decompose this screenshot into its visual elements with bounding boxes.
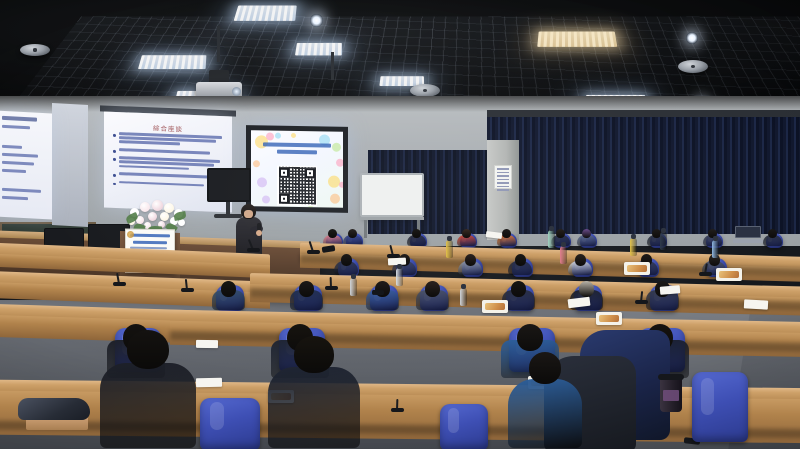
head (425, 281, 440, 297)
water-bottle-8 (660, 232, 667, 250)
head (579, 281, 594, 297)
desk-microphone-8 (635, 300, 648, 304)
confetti-dot-2 (266, 132, 274, 140)
head (462, 229, 471, 238)
bullet-line (119, 148, 211, 154)
head (328, 229, 337, 238)
ceiling-panel-light-9 (537, 32, 617, 47)
water-bottle-1 (350, 278, 357, 296)
bullet-dot (113, 150, 116, 153)
water-bottle-2 (446, 240, 453, 258)
ceiling-panel-light-1 (234, 6, 297, 21)
torso (100, 363, 196, 448)
water-bottle-9 (548, 230, 555, 248)
foreground-chair-2 (692, 372, 748, 442)
coffee-cup (660, 378, 682, 412)
audience-member-r1-10 (763, 229, 782, 246)
paper-sheet-4 (196, 378, 222, 387)
head (768, 229, 777, 238)
confetti-dot-13 (291, 132, 296, 137)
head (515, 254, 526, 266)
folded-coat (18, 398, 90, 420)
desk-microphone-9 (699, 272, 712, 276)
head (127, 330, 169, 369)
head (341, 254, 352, 266)
desk-microphone-2 (307, 250, 320, 254)
paper-sheet-8 (486, 231, 503, 239)
main-slide-bullet-2 (113, 148, 225, 157)
head (511, 281, 526, 297)
foreground-audience-member-2 (268, 336, 360, 448)
empty-desk-row-1 (0, 242, 270, 268)
display-monitor (207, 168, 251, 202)
ceiling-downlight-1 (310, 14, 323, 27)
audience-member-r2-4 (508, 254, 532, 275)
confetti-dot-14 (339, 182, 343, 188)
foreground-chair-1 (200, 398, 260, 449)
bullet-text (119, 148, 226, 157)
laptop-screen (735, 226, 761, 238)
bullet-line (119, 181, 204, 187)
ceiling-speaker-1 (20, 44, 50, 56)
bullet-dot (113, 174, 116, 177)
head (465, 254, 476, 266)
water-bottle-4 (630, 238, 637, 256)
ceiling-speaker-3 (678, 60, 708, 73)
audience-member-r2-5 (568, 254, 592, 275)
bottle-cap (549, 226, 553, 231)
head (294, 336, 334, 373)
head (502, 229, 511, 238)
bottle-cap (351, 274, 355, 279)
qr-slide (251, 130, 343, 208)
paper-sheet-5 (196, 340, 218, 348)
lunch-box-4 (624, 262, 650, 275)
head (529, 352, 562, 384)
desk-microphone-6 (325, 286, 338, 290)
bullet-text (119, 132, 226, 149)
head (517, 324, 543, 351)
head (556, 229, 565, 238)
audience-member-r3-3 (366, 281, 399, 310)
bottle-cap (631, 234, 635, 239)
coffee-cup-label (663, 390, 679, 401)
qr-slide-title (258, 142, 335, 157)
head (348, 229, 357, 238)
water-bottle-5 (460, 288, 467, 306)
bottle-cap (397, 264, 401, 269)
bottle-cap (661, 228, 665, 233)
confetti-dot-6 (253, 161, 260, 168)
desk-microphone-1 (247, 248, 260, 252)
curtain-rail (487, 110, 800, 117)
audience-member-r3-1 (212, 281, 245, 310)
confetti-dot-9 (275, 133, 281, 139)
audience-member-r2-1 (334, 254, 358, 275)
head (299, 281, 314, 297)
torso (508, 379, 582, 448)
head (412, 229, 421, 238)
head (575, 254, 586, 266)
coffee-cup-lid (658, 374, 684, 380)
ceiling-panel-light-5 (295, 43, 342, 56)
laptop (735, 226, 761, 243)
bullet-line (119, 165, 189, 170)
water-bottle-3 (560, 246, 567, 264)
desk-microphone-7 (391, 408, 404, 412)
desk-microphone-4 (113, 282, 126, 286)
wall-notice-sheet (494, 165, 512, 189)
bullet-dot (113, 134, 116, 137)
bottle-cap (561, 242, 565, 247)
head (582, 229, 591, 238)
smartphone-3 (372, 290, 384, 295)
audience-member-r1-7 (577, 229, 596, 246)
lunch-box-5 (716, 268, 742, 281)
foreground-audience-member-3 (508, 352, 582, 448)
lunch-box-1 (482, 300, 508, 313)
lecture-hall-photo: 綜合座談 (0, 0, 800, 449)
laptop-keyboard (733, 239, 763, 243)
ceiling-downlight-2 (686, 32, 698, 44)
ceiling-projector-main-icon (196, 60, 242, 94)
bottle-cap (447, 236, 451, 241)
audience-member-r3-4 (416, 281, 449, 310)
desk-microphone-5 (181, 288, 194, 292)
audience-member-r2-3 (458, 254, 482, 275)
bullet-line (119, 140, 181, 145)
bottle-cap (461, 284, 465, 289)
audience-member-r1-4 (457, 229, 476, 246)
slide-confetti (251, 130, 343, 132)
foreground-audience-member-1 (100, 330, 196, 448)
torso (268, 367, 360, 448)
paper-sheet-6 (744, 299, 768, 309)
confetti-dot-5 (257, 177, 267, 187)
foreground-chair-3 (440, 404, 488, 449)
audience-member-r1-3 (407, 229, 426, 246)
head (221, 281, 236, 297)
water-bottle-10 (396, 268, 403, 286)
confetti-dot-8 (336, 159, 343, 167)
bullet-dot (113, 158, 116, 161)
bottle-cap (713, 236, 717, 241)
bullet-line (119, 173, 213, 179)
lunch-box-2 (596, 312, 622, 325)
bullet-dot (113, 182, 116, 185)
desk-row-3 (170, 310, 800, 346)
audience-member-r3-2 (290, 281, 323, 310)
audience-seating (0, 200, 800, 449)
water-bottle-6 (712, 240, 719, 258)
